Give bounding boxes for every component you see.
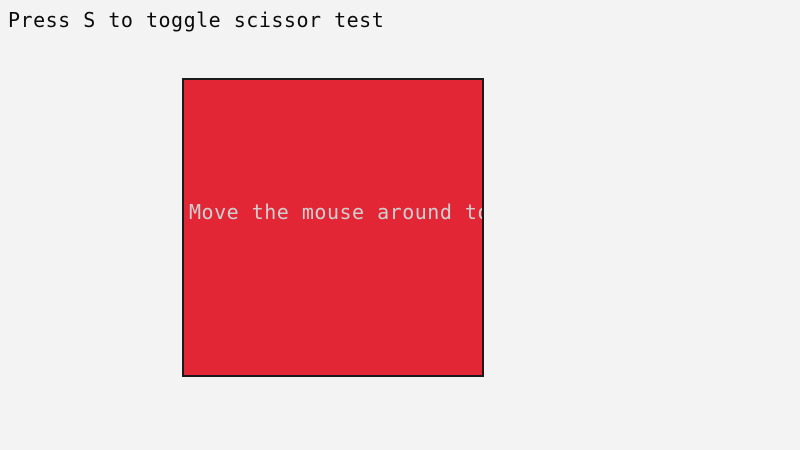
scissor-region[interactable]: Move the mouse around to reveal this tex…: [182, 78, 484, 377]
scissor-clip-mask: Move the mouse around to reveal this tex…: [182, 78, 484, 377]
clipped-message-text: Move the mouse around to reveal this tex…: [189, 199, 484, 225]
scissor-toggle-hint: Press S to toggle scissor test: [8, 7, 384, 33]
app-canvas: Press S to toggle scissor test Move the …: [0, 0, 800, 450]
